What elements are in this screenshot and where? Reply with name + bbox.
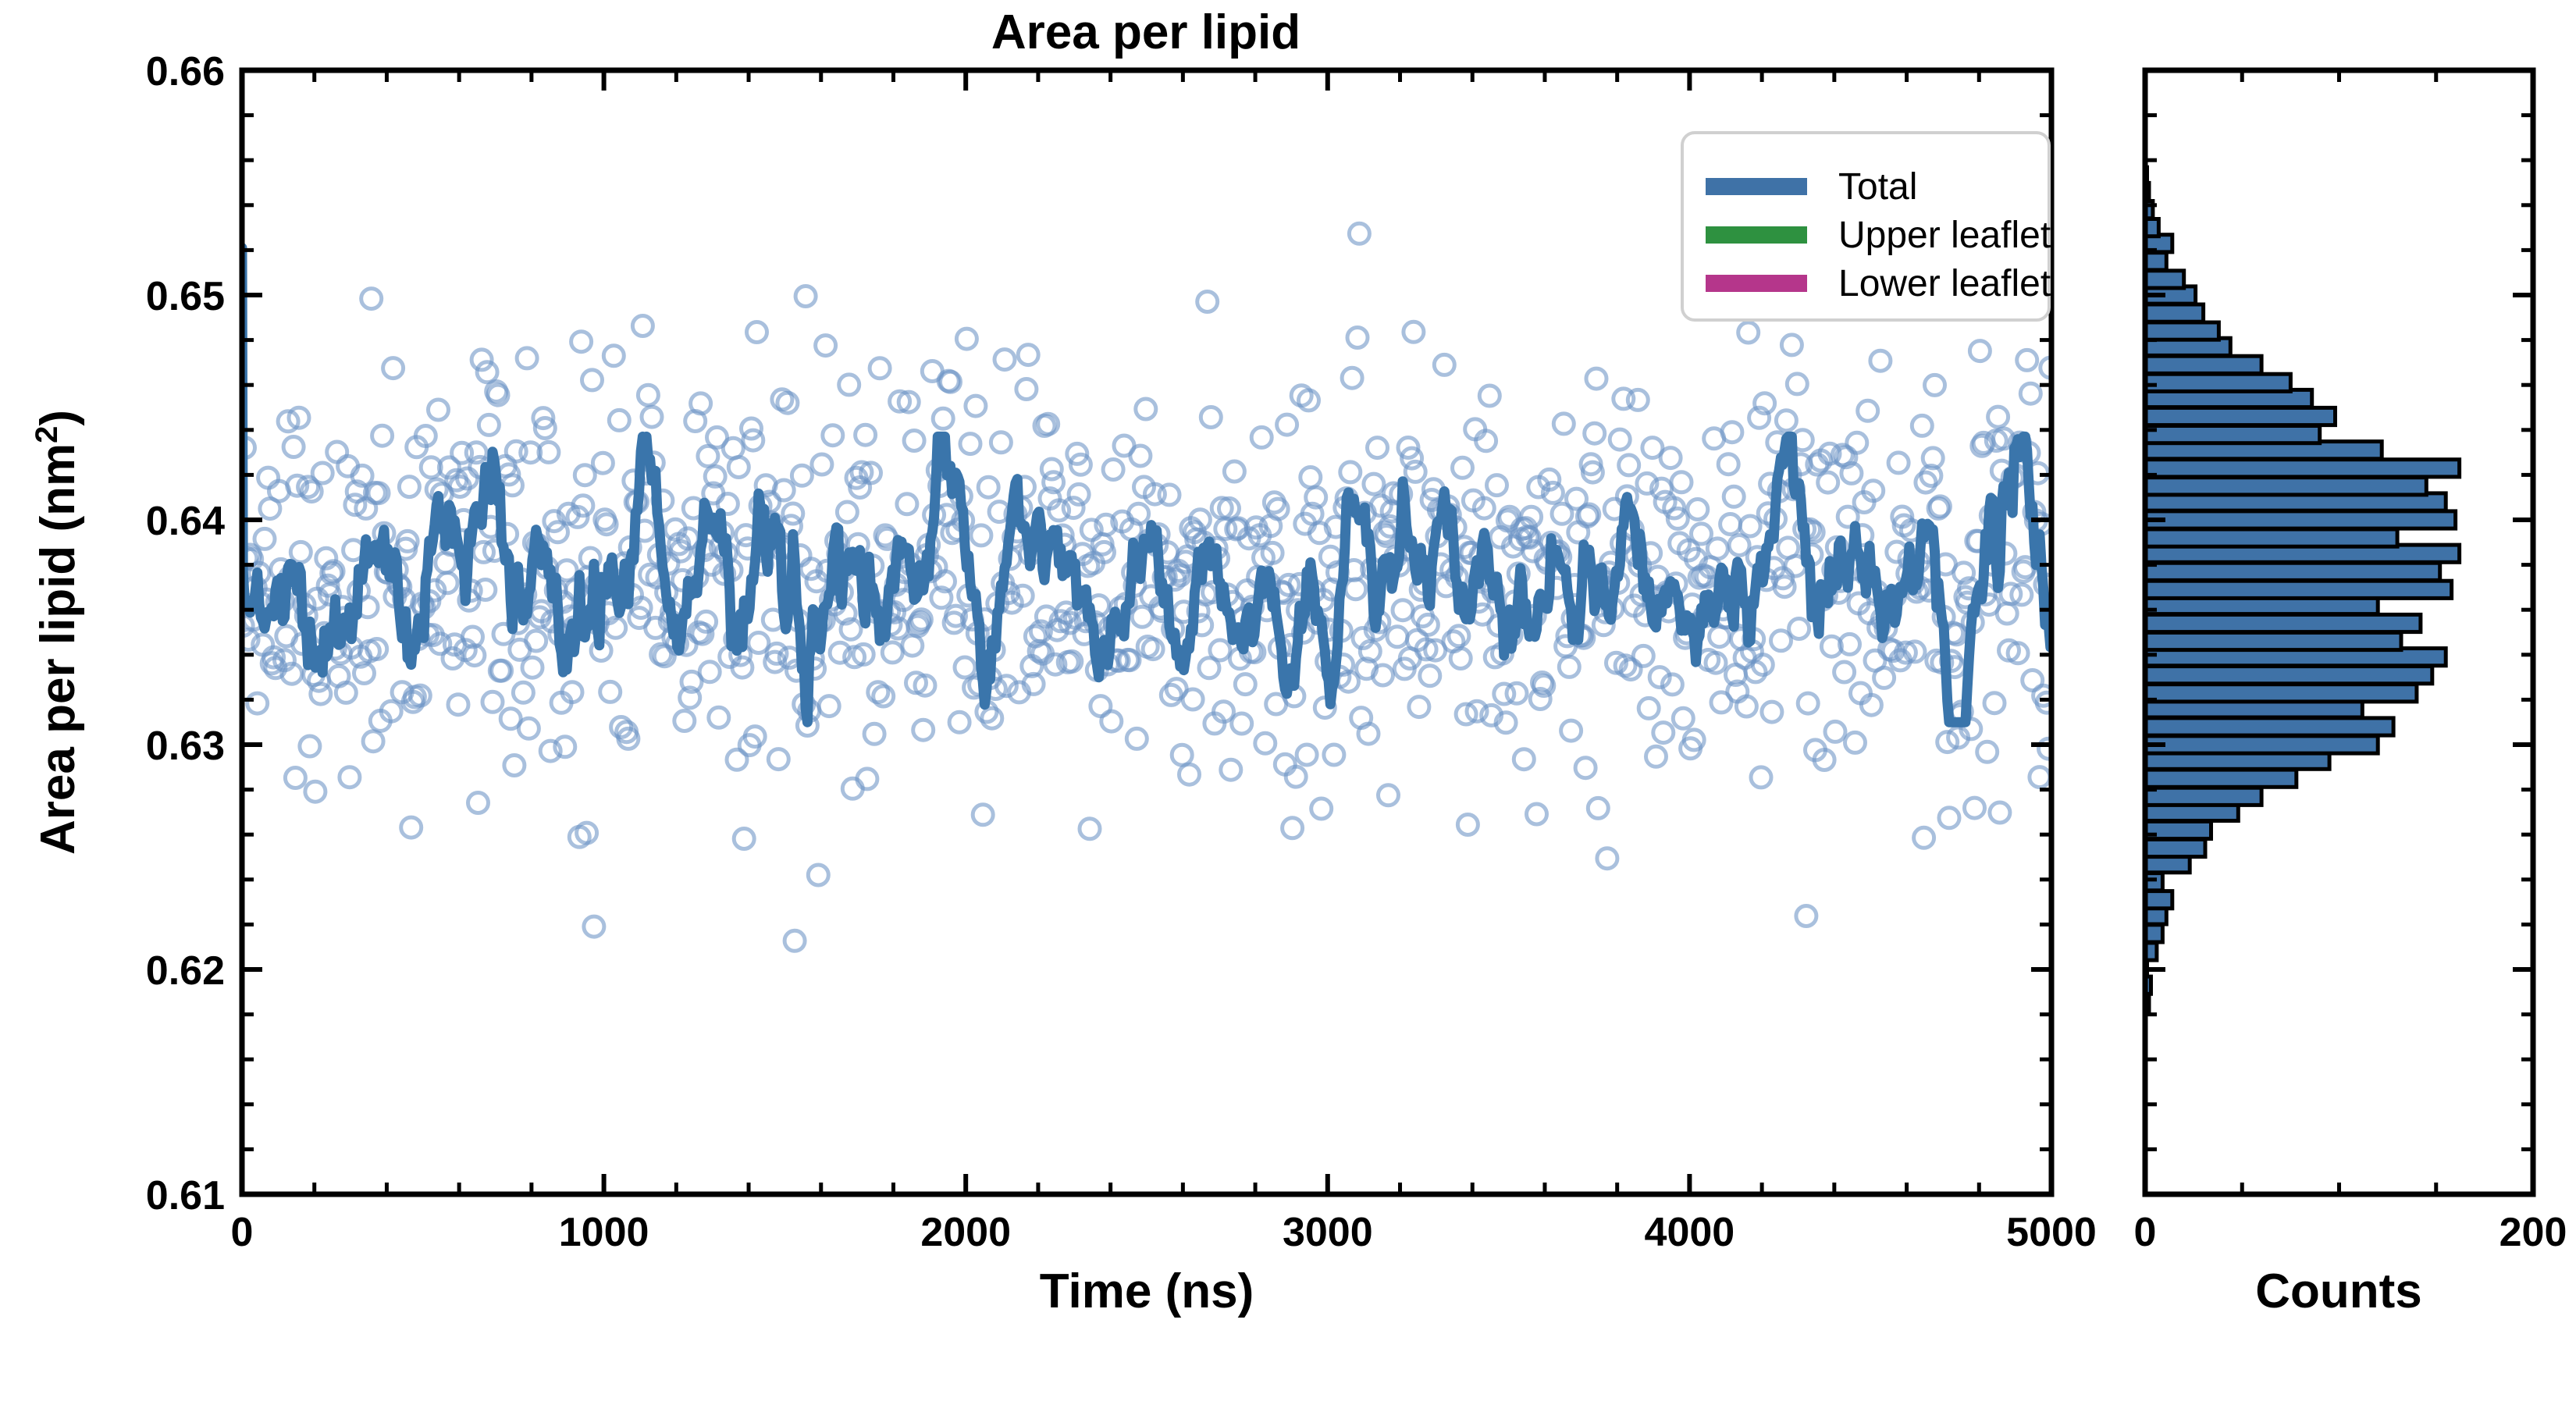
scatter-point — [513, 682, 533, 702]
scatter-point — [1969, 341, 1990, 361]
scatter-point — [949, 712, 970, 732]
scatter-point — [1888, 453, 1909, 473]
hist-x-tick-labels: 0200 — [2134, 1210, 2567, 1255]
scatter-point — [812, 454, 832, 475]
scatter-point — [960, 434, 980, 454]
x-tick-label: 1000 — [559, 1210, 649, 1255]
scatter-point — [1988, 407, 2008, 427]
scatter-point — [1646, 746, 1667, 767]
scatter-point — [1740, 516, 1760, 536]
scatter-point — [1789, 619, 1809, 639]
scatter-point — [1101, 711, 1122, 731]
scatter-point — [526, 631, 546, 651]
histogram-bar — [2145, 563, 2440, 580]
scatter-point — [1720, 514, 1741, 535]
y-tick-label: 0.64 — [146, 499, 225, 544]
scatter-point — [1434, 354, 1454, 375]
scatter-point — [582, 370, 603, 390]
histogram-bar — [2145, 685, 2417, 702]
scatter-point — [1387, 627, 1407, 647]
scatter-point — [600, 681, 621, 702]
scatter-point — [1575, 758, 1596, 778]
scatter-point — [1527, 804, 1547, 824]
scatter-point — [1874, 667, 1895, 688]
legend-swatch-total — [1706, 178, 1807, 195]
scatter-point — [823, 425, 843, 446]
histogram-bar — [2145, 322, 2218, 340]
x-tick-label: 4000 — [1645, 1210, 1735, 1255]
histogram-bar — [2145, 581, 2452, 598]
scatter-point — [1404, 322, 1424, 342]
scatter-point — [1847, 432, 1867, 453]
scatter-point — [1172, 745, 1192, 765]
scatter-point — [475, 580, 496, 600]
scatter-point — [728, 457, 749, 478]
scatter-point — [340, 767, 360, 788]
scatter-point — [1507, 683, 1527, 703]
scatter-point — [1722, 422, 1742, 443]
scatter-point — [1787, 374, 1807, 394]
scatter-point — [1311, 799, 1332, 819]
scatter-point — [632, 316, 653, 336]
figure-canvas: Area per lipid 010002000300040005000 0.6… — [0, 0, 2576, 1405]
scatter-point — [816, 336, 836, 356]
scatter-point — [1751, 767, 1771, 788]
scatter-point — [1340, 462, 1361, 482]
scatter-point — [1159, 485, 1179, 505]
scatter-point — [1018, 345, 1038, 365]
scatter-point — [1671, 472, 1692, 493]
scatter-point — [795, 286, 816, 307]
legend: TotalUpper leafletLower leaflet — [1682, 133, 2051, 320]
scatter-point — [785, 930, 805, 951]
scatter-point — [1707, 539, 1727, 559]
scatter-point — [819, 696, 839, 717]
scatter-point — [1349, 223, 1369, 244]
scatter-point — [897, 494, 917, 514]
scatter-point — [1183, 689, 1203, 710]
scatter-point — [864, 724, 884, 744]
scatter-point — [522, 657, 543, 678]
main-x-tick-labels: 010002000300040005000 — [231, 1210, 2097, 1255]
x-tick-label: 2000 — [920, 1210, 1011, 1255]
scatter-point — [699, 662, 720, 682]
scatter-point — [973, 805, 993, 825]
scatter-point — [1628, 389, 1648, 410]
x-axis-title: Time (ns) — [1040, 1264, 1254, 1318]
scatter-point — [1201, 407, 1221, 428]
histogram-bar — [2145, 253, 2166, 270]
scatter-point — [1977, 742, 1998, 762]
scatter-point — [792, 465, 812, 486]
scatter-point — [1457, 815, 1478, 835]
scatter-point — [1379, 785, 1399, 806]
scatter-point — [1818, 472, 1838, 493]
scatter-point — [1487, 475, 1507, 496]
scatter-point — [311, 684, 331, 704]
scatter-point — [747, 322, 767, 343]
scatter-point — [363, 731, 383, 752]
histogram-bar — [2145, 667, 2432, 684]
histogram-bar — [2145, 478, 2426, 495]
y-tick-label: 0.66 — [146, 49, 225, 94]
scatter-point — [1914, 827, 1934, 848]
scatter-point — [383, 358, 404, 379]
legend-swatch-upper-leaflet — [1706, 226, 1807, 244]
scatter-point — [1638, 698, 1659, 718]
figure-root: Area per lipid 010002000300040005000 0.6… — [0, 0, 2576, 1405]
scatter-point — [254, 528, 275, 549]
scatter-point — [2030, 767, 2050, 788]
scatter-point — [592, 453, 613, 473]
scatter-point — [1016, 379, 1037, 400]
scatter-point — [1688, 500, 1708, 520]
scatter-point — [258, 468, 279, 488]
scatter-point — [642, 407, 662, 427]
scatter-point — [1965, 798, 1985, 818]
scatter-point — [1235, 674, 1255, 695]
scatter-point — [1161, 685, 1181, 705]
x-tick-label: 3000 — [1283, 1210, 1373, 1255]
scatter-point — [1585, 423, 1605, 443]
scatter-point — [1479, 386, 1500, 406]
scatter-point — [913, 720, 934, 740]
histogram-bars — [2145, 167, 2460, 1012]
histogram-bar — [2145, 614, 2421, 631]
x-tick-label: 5000 — [2006, 1210, 2097, 1255]
scatter-point — [956, 329, 977, 349]
scatter-point — [994, 350, 1015, 370]
x-tick-label: 0 — [231, 1210, 254, 1255]
scatter-point — [1342, 368, 1362, 388]
scatter-point — [1633, 646, 1653, 666]
scatter-point — [783, 503, 803, 524]
histogram-bar — [2145, 788, 2261, 805]
histogram-bar — [2145, 304, 2204, 322]
scatter-point — [709, 707, 729, 727]
scatter-point — [1179, 764, 1200, 784]
scatter-point — [978, 477, 998, 497]
scatter-point — [1393, 600, 1413, 621]
scatter-point — [1126, 728, 1147, 749]
scatter-point — [902, 635, 923, 656]
scatter-point — [482, 692, 503, 712]
legend-label-upper-leaflet: Upper leaflet — [1838, 215, 2051, 256]
y-tick-label: 0.62 — [146, 948, 225, 994]
scatter-point — [1925, 375, 1945, 395]
scatter-point — [1738, 322, 1759, 343]
scatter-point — [603, 346, 624, 366]
scatter-point — [399, 477, 419, 497]
scatter-point — [857, 769, 877, 789]
histogram-bar — [2145, 356, 2261, 373]
scatter-point — [372, 425, 393, 446]
histogram-panel: 0200 Counts — [2134, 70, 2567, 1318]
scatter-point — [1834, 662, 1855, 682]
scatter-point — [1553, 414, 1574, 434]
legend-label-lower-leaflet: Lower leaflet — [1838, 263, 2051, 304]
scatter-point — [1798, 693, 1818, 713]
legend-label-total: Total — [1838, 166, 1917, 208]
scatter-point — [638, 385, 658, 405]
scatter-point — [1232, 713, 1252, 734]
scatter-point — [1586, 368, 1606, 389]
hist-x-axis-title: Counts — [2255, 1264, 2422, 1318]
scatter-point — [991, 432, 1011, 453]
scatter-point — [1724, 486, 1744, 507]
histogram-bar — [2145, 511, 2456, 528]
scatter-point — [1597, 848, 1617, 869]
scatter-point — [856, 425, 876, 445]
scatter-point — [1762, 702, 1782, 722]
main-y-tick-labels: 0.610.620.630.640.650.66 — [146, 49, 225, 1218]
scatter-point — [305, 781, 326, 802]
scatter-point — [448, 695, 468, 715]
scatter-point — [312, 463, 333, 483]
histogram-bar — [2145, 736, 2378, 753]
scatter-point — [1449, 626, 1469, 646]
scatter-point — [1561, 720, 1582, 741]
scatter-point — [1297, 745, 1317, 765]
scatter-point — [1224, 461, 1244, 482]
scatter-point — [1405, 461, 1425, 482]
scatter-point — [300, 736, 320, 756]
scatter-point — [1619, 455, 1639, 475]
scatter-point — [1912, 415, 1932, 436]
scatter-point — [1420, 666, 1440, 686]
y-axis-title: Area per lipid (nm2) — [30, 410, 85, 855]
scatter-point — [870, 358, 890, 379]
scatter-point — [768, 749, 788, 770]
legend-swatch-lower-leaflet — [1706, 275, 1807, 292]
scatter-point — [1825, 721, 1845, 742]
histogram-bar — [2145, 529, 2397, 546]
scatter-point — [1984, 693, 2005, 713]
scatter-point — [327, 442, 347, 462]
scatter-point — [468, 793, 489, 813]
scatter-point — [1610, 429, 1630, 450]
scatter-point — [504, 756, 525, 776]
page-title: Area per lipid — [991, 5, 1300, 59]
scatter-point — [1653, 723, 1674, 743]
scatter-point — [1781, 335, 1802, 355]
scatter-point — [477, 362, 497, 382]
scatter-point — [1221, 759, 1241, 780]
scatter-point — [933, 408, 953, 429]
scatter-point — [1660, 448, 1681, 468]
scatter-point — [1347, 328, 1368, 348]
scatter-point — [1776, 411, 1796, 431]
scatter-point — [1673, 708, 1693, 728]
scatter-point — [283, 437, 304, 457]
histogram-bar — [2145, 460, 2460, 477]
y-tick-label: 0.63 — [146, 724, 225, 769]
scatter-point — [674, 711, 695, 731]
scatter-point — [609, 410, 629, 430]
scatter-point — [1324, 745, 1344, 765]
scatter-point — [966, 396, 986, 416]
scatter-point — [1939, 808, 1959, 828]
scatter-point — [873, 686, 894, 706]
histogram-bar — [2145, 891, 2172, 909]
scatter-point — [1080, 819, 1100, 839]
scatter-point — [1588, 798, 1608, 818]
histogram-bar — [2145, 407, 2336, 425]
y-tick-label: 0.61 — [146, 1173, 225, 1218]
scatter-point — [429, 400, 449, 420]
scatter-point — [1268, 499, 1288, 519]
scatter-point — [1870, 350, 1891, 371]
scatter-point — [571, 332, 592, 352]
scatter-point — [479, 414, 499, 435]
scatter-point — [401, 817, 422, 838]
scatter-point — [2020, 383, 2041, 404]
scatter-point — [247, 693, 268, 713]
histogram-bar — [2145, 271, 2184, 288]
scatter-point — [1197, 292, 1218, 312]
scatter-point — [1283, 818, 1303, 838]
scatter-point — [518, 718, 539, 738]
scatter-point — [285, 768, 305, 788]
scatter-point — [2017, 350, 2037, 370]
scatter-point — [1368, 438, 1388, 458]
scatter-point — [517, 348, 537, 368]
scatter-point — [1277, 414, 1297, 435]
scatter-point — [1718, 454, 1738, 475]
scatter-point — [734, 829, 754, 849]
scatter-point — [1997, 603, 2017, 624]
scatter-point — [882, 642, 902, 663]
scatter-point — [1559, 656, 1579, 677]
scatter-point — [1251, 427, 1272, 447]
scatter-point — [1796, 906, 1816, 927]
scatter-point — [1514, 749, 1534, 770]
scatter-point — [290, 542, 311, 562]
scatter-point — [584, 916, 604, 937]
scatter-point — [842, 778, 863, 799]
hist-x-tick-label: 200 — [2500, 1210, 2567, 1255]
histogram-bar — [2145, 718, 2393, 735]
scatter-point — [1136, 399, 1156, 419]
hist-x-tick-label: 0 — [2134, 1210, 2157, 1255]
histogram-bar — [2145, 839, 2205, 856]
scatter-point — [955, 657, 975, 678]
histogram-bar — [2145, 374, 2290, 391]
histogram-bar — [2145, 770, 2297, 787]
scatter-point — [1130, 446, 1151, 466]
scatter-point — [1710, 627, 1730, 647]
scatter-point — [837, 502, 857, 522]
scatter-point — [1103, 460, 1123, 480]
scatter-point — [904, 431, 924, 451]
scatter-point — [1300, 468, 1321, 488]
scatter-point — [1858, 400, 1878, 421]
scatter-point — [1364, 474, 1384, 494]
scatter-point — [1453, 457, 1473, 478]
y-tick-label: 0.65 — [146, 274, 225, 319]
histogram-bar — [2145, 632, 2401, 649]
scatter-point — [1409, 697, 1429, 717]
scatter-point — [971, 525, 991, 546]
scatter-point — [1210, 640, 1230, 660]
scatter-point — [808, 865, 828, 885]
scatter-point — [839, 375, 859, 395]
histogram-bar — [2145, 426, 2320, 443]
scatter-point — [1255, 733, 1276, 753]
scatter-point — [1845, 732, 1866, 752]
scatter-point — [1450, 649, 1471, 669]
scatter-point — [471, 350, 492, 370]
scatter-point — [1990, 802, 2010, 823]
scatter-point — [361, 289, 382, 309]
